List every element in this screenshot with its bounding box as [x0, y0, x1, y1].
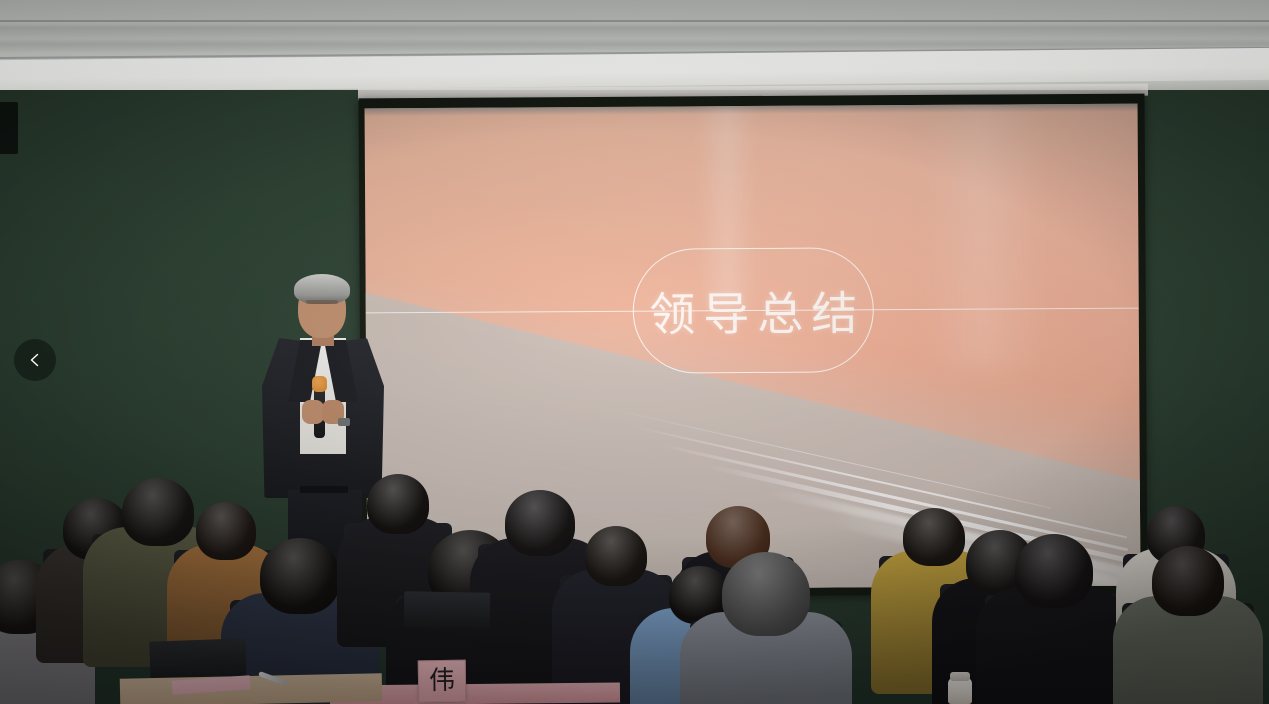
name-placard: 伟 [418, 660, 467, 703]
attendee-olive-right [1113, 546, 1263, 704]
slide-title: 领导总结 [641, 277, 865, 344]
conference-table [120, 673, 383, 704]
water-bottle [948, 678, 972, 704]
previous-image-button[interactable] [14, 339, 56, 381]
presenter-hand-left [302, 400, 324, 424]
laptop [404, 591, 491, 628]
wall-speaker [0, 102, 18, 154]
attendee-head [1152, 546, 1224, 616]
projector-light-streak [921, 104, 1043, 370]
attendee-head [1015, 534, 1093, 608]
presenter-watch [338, 418, 350, 426]
ceiling-seam [0, 20, 1269, 22]
attendee-head [260, 538, 340, 614]
water-bottle-cap [950, 672, 970, 681]
name-placard-text: 伟 [429, 668, 455, 694]
presenter-face-detail [306, 300, 338, 304]
chevron-left-icon [27, 352, 43, 368]
photo-viewer: 领导总结 伟 [0, 0, 1269, 704]
slide-title-pill: 领导总结 [632, 247, 874, 373]
attendee-gray-knit [680, 552, 852, 704]
attendee-head [367, 474, 429, 534]
attendee-head [722, 552, 810, 636]
attendee-front-dark [976, 534, 1132, 704]
microphone-head [312, 376, 327, 392]
